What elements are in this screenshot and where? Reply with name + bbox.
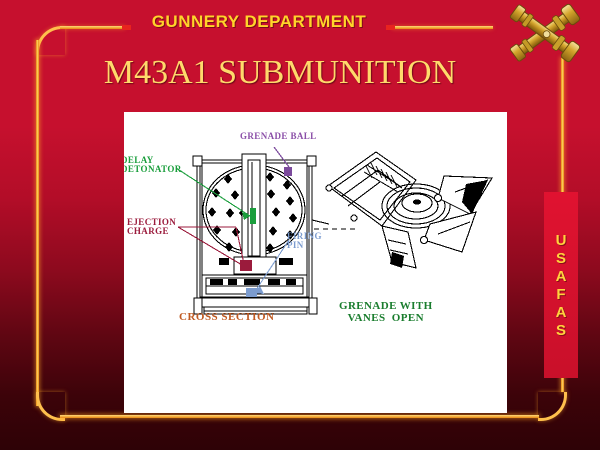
frame-dash-right [386,25,395,30]
usafas-letter-u: U [556,233,567,248]
diagram-label-grenade-ball: GRENADE BALL [240,132,317,141]
frame-corner-top-left [36,26,65,55]
page-title: M43A1 SUBMUNITION [0,54,560,92]
presentation-slide: GUNNERY DEPARTMENT [0,0,600,450]
frame-line-left [36,40,39,406]
frame-dash-left [122,25,131,30]
frame-corner-bottom-right [538,392,567,421]
usafas-letter-s: S [556,251,566,266]
frame-line-bottom [60,415,539,418]
diagram-caption-cross-section: CROSS SECTION [179,312,274,324]
diagram-image-panel: GRENADE BALL DELAY DETONATOR EJECTION CH… [124,112,507,413]
usafas-letter-s2: S [556,323,566,338]
usafas-sidebar-strip: U S A F A S [544,192,578,378]
usafas-letter-f: F [556,287,565,302]
frame-line-right-upper [561,58,564,203]
frame-line-top-left [60,26,125,29]
frame-line-top-right [392,26,493,29]
department-header-title: GUNNERY DEPARTMENT [133,12,385,32]
diagram-label-firing-pin: FIRING PIN [287,232,322,251]
diagram-caption-grenade-vanes-open: GRENADE WITH VANES OPEN [339,301,433,324]
diagram-label-ejection-charge: EJECTION CHARGE [127,218,176,237]
usafas-letter-a2: A [556,305,567,320]
diagram-label-delay-detonator: DELAY DETONATOR [124,156,182,175]
usafas-letter-a: A [556,269,567,284]
